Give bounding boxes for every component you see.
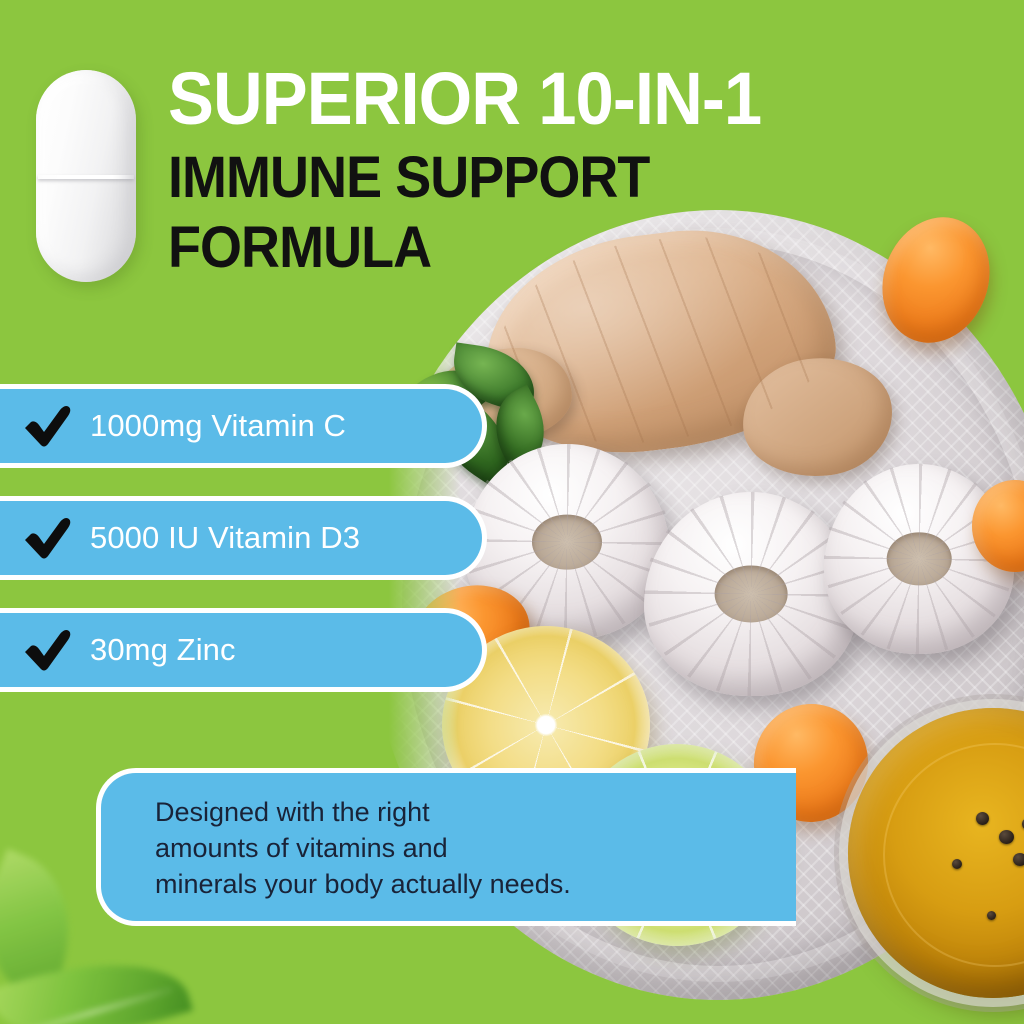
- honey-bowl-image: [848, 708, 1024, 998]
- feature-label: 30mg Zinc: [90, 632, 236, 668]
- product-poster: SUPERIOR 10-IN-1 IMMUNE SUPPORT FORMULA …: [0, 0, 1024, 1024]
- capsule-score-line: [38, 175, 134, 179]
- description-line-3: minerals your body actually needs.: [155, 866, 772, 902]
- garlic-bulb-texture: [464, 444, 670, 640]
- description-line-2: amounts of vitamins and: [155, 830, 772, 866]
- garlic-bulb-texture: [644, 492, 858, 696]
- description-callout: Designed with the right amounts of vitam…: [96, 768, 796, 926]
- tablet-capsule-icon: [36, 70, 136, 282]
- garlic-bulb-texture: [824, 464, 1014, 654]
- feature-item-vitamin-d3[interactable]: 5000 IU Vitamin D3: [0, 496, 487, 580]
- garlic-bulb-image: [824, 464, 1014, 654]
- headline-line-3: FORMULA: [168, 219, 875, 277]
- feature-item-vitamin-c[interactable]: 1000mg Vitamin C: [0, 384, 487, 468]
- kumquat-image: [972, 480, 1024, 572]
- check-icon: [22, 516, 74, 560]
- check-icon: [22, 404, 74, 448]
- leaf-vein: [11, 988, 173, 1024]
- garlic-bulb-image: [464, 444, 670, 640]
- headline-line-2: IMMUNE SUPPORT: [168, 149, 875, 207]
- feature-item-zinc[interactable]: 30mg Zinc: [0, 608, 487, 692]
- leaf-icon: [0, 849, 96, 1004]
- check-icon: [22, 628, 74, 672]
- garlic-bulb-image: [644, 492, 858, 696]
- feature-label: 5000 IU Vitamin D3: [90, 520, 360, 556]
- leaf-icon: [0, 937, 193, 1024]
- page-title: SUPERIOR 10-IN-1 IMMUNE SUPPORT FORMULA: [168, 62, 928, 277]
- feature-label: 1000mg Vitamin C: [90, 408, 346, 444]
- feature-list: 1000mg Vitamin C 5000 IU Vitamin D3 30mg…: [0, 384, 487, 720]
- headline-line-1: SUPERIOR 10-IN-1: [168, 62, 875, 136]
- description-line-1: Designed with the right: [155, 794, 772, 830]
